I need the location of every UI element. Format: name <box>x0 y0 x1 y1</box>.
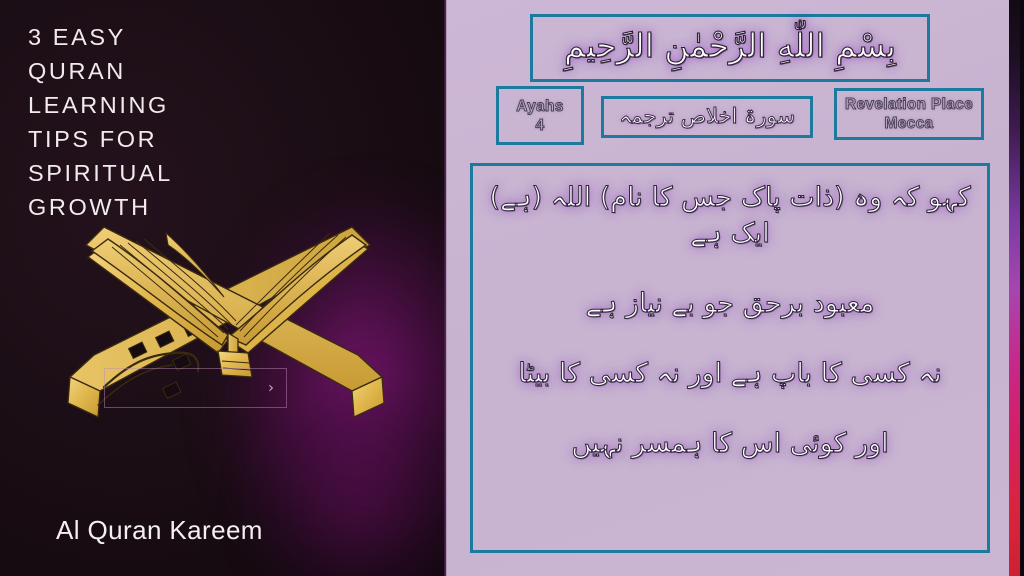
slide-canvas: 3 EASY QURAN LEARNING TIPS FOR SPIRITUAL… <box>0 0 1024 576</box>
right-edge-dark-border <box>1020 0 1024 576</box>
ayahs-count: 4 <box>536 116 545 135</box>
translation-body-box: کہو کہ وہ (ذات پاک جس کا نام) اللہ (ہے) … <box>470 163 990 553</box>
next-arrow-button[interactable]: › <box>104 368 287 408</box>
panel-divider <box>444 0 447 576</box>
revelation-place-box: Revelation Place Mecca <box>834 88 984 140</box>
headline-title: 3 EASY QURAN LEARNING TIPS FOR SPIRITUAL… <box>28 20 358 224</box>
bismillah-text: بِسْمِ اللّٰهِ الرَّحْمٰنِ الرَّحِيمِ <box>564 27 896 65</box>
translation-line: کہو کہ وہ (ذات پاک جس کا نام) اللہ (ہے) … <box>489 180 971 252</box>
bismillah-box: بِسْمِ اللّٰهِ الرَّحْمٰنِ الرَّحِيمِ <box>530 14 930 82</box>
ayahs-label: Ayahs <box>516 97 563 116</box>
surah-title-box: سورۃ اخلاص ترجمہ <box>601 96 813 138</box>
translation-lines: کہو کہ وہ (ذات پاک جس کا نام) اللہ (ہے) … <box>489 180 971 462</box>
right-panel: بِسْمِ اللّٰهِ الرَّحْمٰنِ الرَّحِيمِ Ay… <box>446 0 1016 576</box>
revelation-place-label: Revelation Place <box>845 95 973 114</box>
translation-line: نہ کسی کا باپ ہے اور نہ کسی کا بیٹا <box>489 356 971 392</box>
right-edge-gradient-strip <box>1009 0 1020 576</box>
left-panel: 3 EASY QURAN LEARNING TIPS FOR SPIRITUAL… <box>0 0 446 576</box>
translation-line: اور کوئی اس کا ہمسر نہیں <box>489 426 971 462</box>
translation-line: معبود برحق جو بے نیاز ہے <box>489 286 971 322</box>
surah-title-text: سورۃ اخلاص ترجمہ <box>619 104 795 128</box>
brand-caption: Al Quran Kareem <box>56 515 263 546</box>
ayahs-info-box: Ayahs 4 <box>496 86 584 145</box>
quran-rehal-illustration <box>52 205 404 450</box>
chevron-right-icon: › <box>268 381 274 396</box>
revelation-place-value: Mecca <box>885 114 934 133</box>
